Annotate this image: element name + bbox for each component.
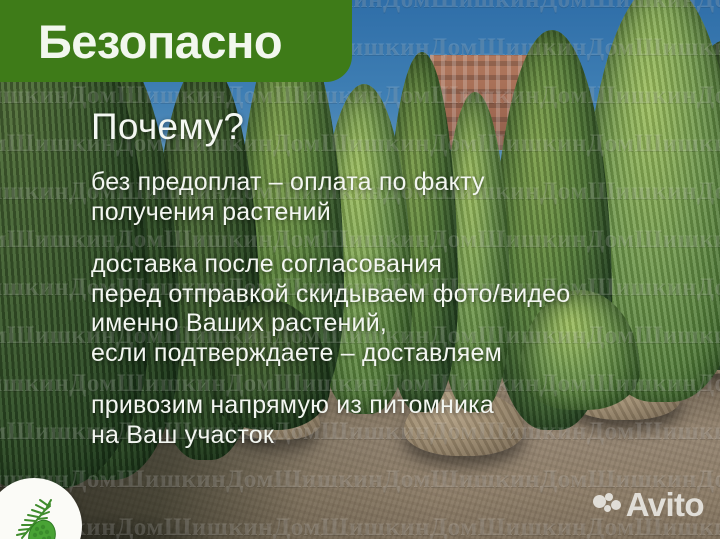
banner-title: Безопасно <box>38 18 282 65</box>
benefit-line: перед отправкой скидываем фото/видео <box>91 280 711 310</box>
benefit-line: без предоплат – оплата по факту <box>91 168 711 198</box>
pine-branch-cone-icon <box>6 496 68 539</box>
benefit-line: доставка после согласования <box>91 250 711 280</box>
benefit-line: именно Ваших растений, <box>91 309 711 339</box>
avito-watermark: Avito <box>593 488 704 521</box>
benefit-paragraph-no-prepayment: без предоплат – оплата по факту получени… <box>91 168 711 227</box>
benefit-line: если подтверждаете – доставляем <box>91 339 711 369</box>
avito-wordmark: Avito <box>626 488 704 521</box>
avito-dots-icon <box>593 493 619 517</box>
benefit-paragraph-direct-from-nursery: привозим напрямую из питомника на Ваш уч… <box>91 391 711 450</box>
ad-image: ШишкинДомШишкинДомШишкинДомШишкинДомШишк… <box>0 0 720 539</box>
benefit-line: получения растений <box>91 198 711 228</box>
page-title: Почему? <box>91 107 244 147</box>
benefit-line: на Ваш участок <box>91 421 711 451</box>
benefit-line: привозим напрямую из питомника <box>91 391 711 421</box>
benefit-paragraph-delivery-after-approval: доставка после согласования перед отправ… <box>91 250 711 368</box>
benefits-list: без предоплат – оплата по факту получени… <box>91 168 711 450</box>
